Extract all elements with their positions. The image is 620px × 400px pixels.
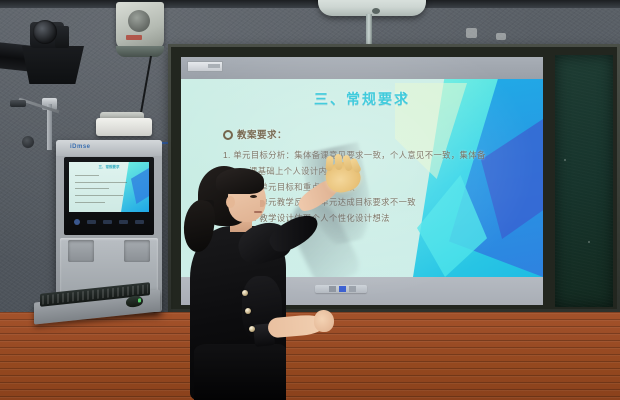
console-text-line <box>75 175 99 176</box>
slide-line: 1. 单元目标分析：集体备课意见要求一致，个人意见不一致，集体备 <box>223 148 523 164</box>
bullet-ring-icon <box>223 130 233 140</box>
chalkboard <box>555 55 613 307</box>
classroom-photo: 三、常规要求 教案要求： 1. 单元目标分析：集体备课意见要求一致，个人意见不一… <box>0 0 620 400</box>
ptz-camera-arm <box>55 26 69 48</box>
console-monitor[interactable]: 三、常规要求 <box>64 157 154 235</box>
console-button[interactable] <box>103 220 112 224</box>
slide-heading-text: 教案要求： <box>237 130 287 141</box>
wall-mark-1 <box>466 28 477 38</box>
console-text-line <box>75 182 127 183</box>
teacher <box>176 164 366 400</box>
teacher-bangs <box>216 168 264 194</box>
console-text-line <box>75 195 123 196</box>
console-button[interactable] <box>119 220 128 224</box>
speaker-cone-icon <box>128 10 150 32</box>
teacher-finger <box>334 154 342 170</box>
teacher-mouth <box>254 211 262 213</box>
projector-pole <box>366 14 372 46</box>
teacher-ear <box>226 196 235 208</box>
camera-mount <box>22 46 84 84</box>
ceiling-band <box>0 0 620 8</box>
chalk-mark <box>564 159 566 161</box>
dress-button <box>249 326 255 332</box>
console-slot-right <box>124 240 150 262</box>
console-text-line <box>75 188 109 189</box>
wireless-router <box>96 118 152 136</box>
wall-speaker <box>116 2 164 50</box>
dress-button <box>245 308 251 314</box>
console-monitor-screen: 三、常规要求 <box>69 162 149 212</box>
speaker-badge <box>126 35 142 40</box>
window-chrome-control[interactable] <box>187 61 223 72</box>
ptz-camera-icon <box>33 20 57 44</box>
desktop-top-chrome <box>181 57 543 79</box>
teacher-fist <box>314 310 334 332</box>
speaker-base <box>116 46 164 57</box>
dress-button <box>242 290 248 296</box>
console-power-button[interactable] <box>74 219 80 225</box>
teacher-nose <box>260 200 265 207</box>
console-brand-label: iDmse <box>70 144 91 150</box>
chalk-mark <box>588 241 590 243</box>
console-knob[interactable] <box>22 136 34 148</box>
console-slot-left <box>68 240 94 262</box>
console-slide-title: 三、常规要求 <box>69 165 149 170</box>
console-button[interactable] <box>87 220 96 224</box>
teacher-skirt <box>194 344 286 400</box>
console-button[interactable] <box>135 220 144 224</box>
slide-heading: 教案要求： <box>223 127 523 141</box>
microphone-icon <box>10 100 26 107</box>
wall-mark-2 <box>496 33 506 40</box>
teacher-eye <box>250 195 257 198</box>
console-text-line <box>75 202 105 203</box>
console-button-row[interactable] <box>70 215 148 229</box>
ceiling-projector <box>318 0 426 16</box>
teacher-upper-arm-raised <box>265 209 323 258</box>
slide-title: 三、常规要求 <box>181 89 543 109</box>
projector-lens-icon <box>372 8 380 14</box>
